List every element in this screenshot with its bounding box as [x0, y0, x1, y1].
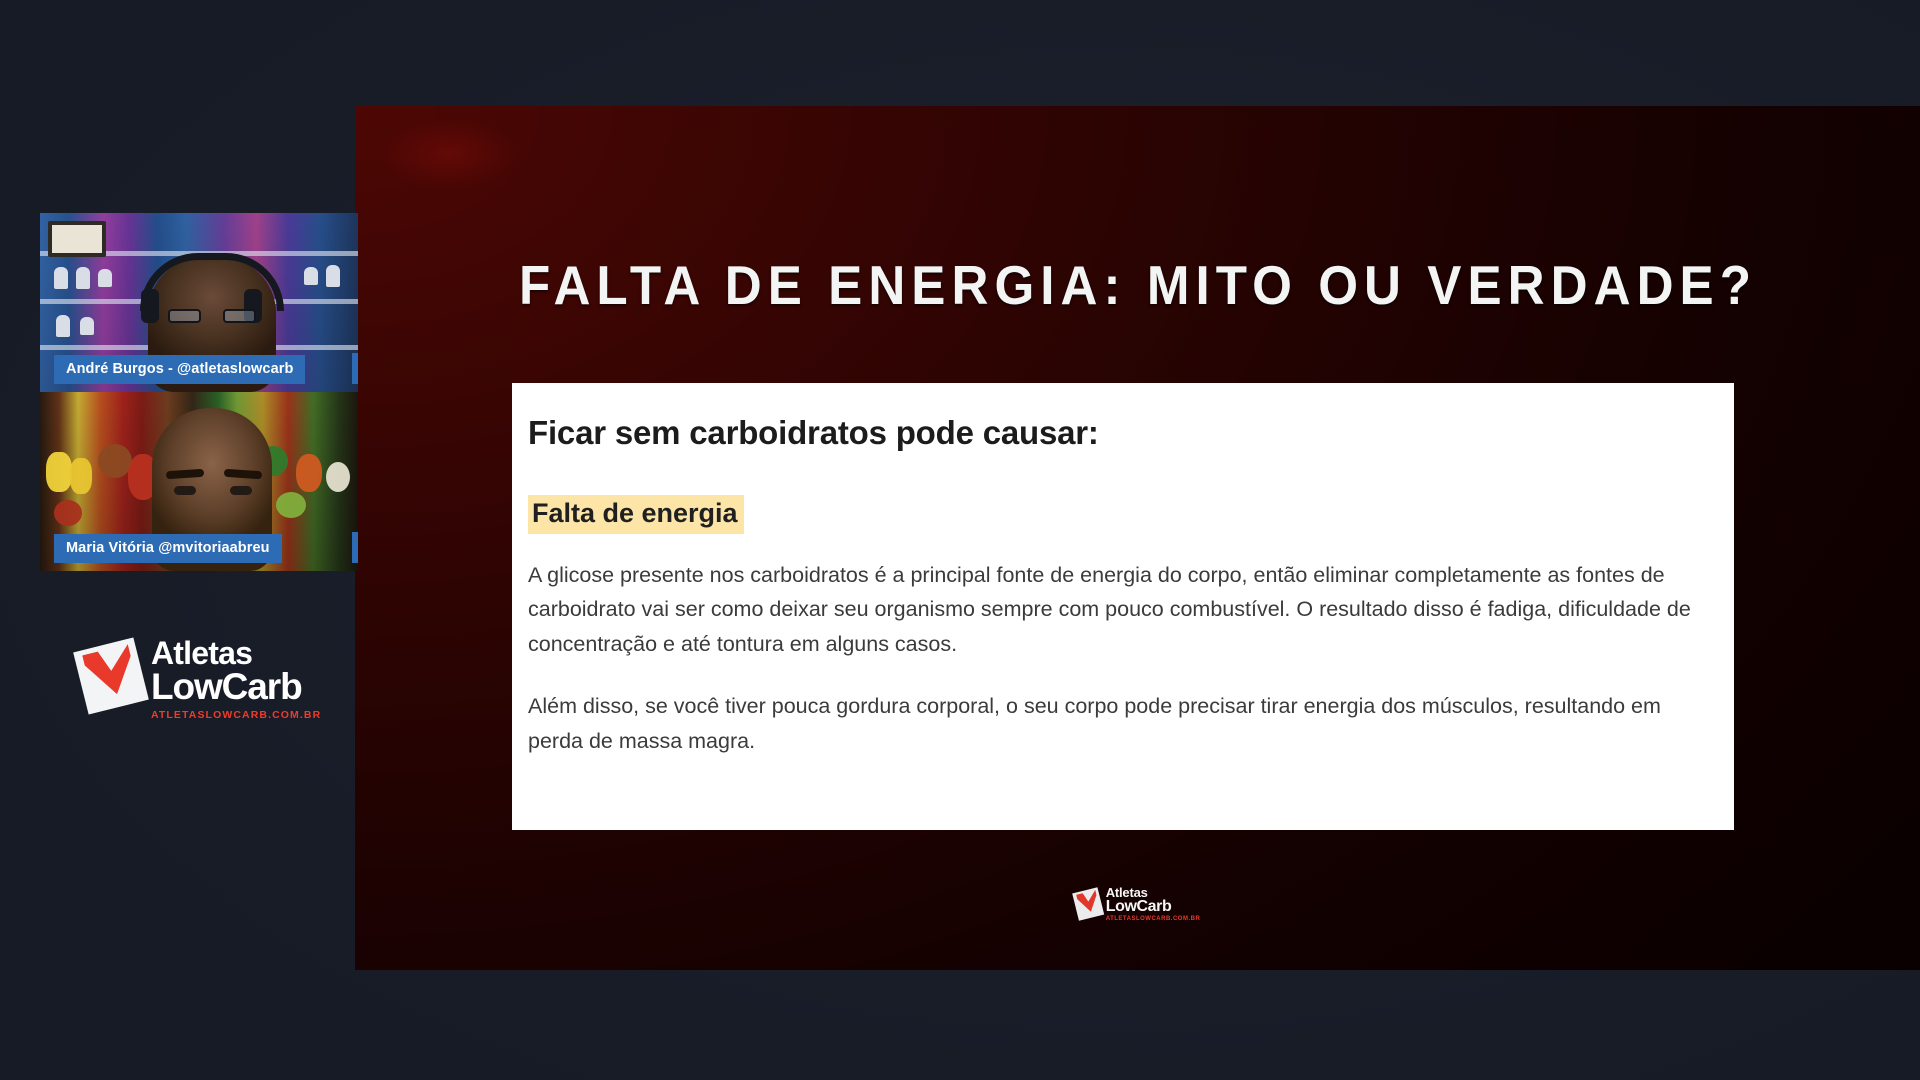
brand-logo-line2: LowCarb — [151, 669, 321, 705]
participant-name-label-maria-vitoria: Maria Vitória @mvitoriaabreu — [54, 534, 282, 563]
participant-name-label-andre-burgos: André Burgos - @atletaslowcarb — [54, 355, 305, 384]
card-subheading-highlighted: Falta de energia — [528, 495, 744, 534]
participant-tile-maria-vitoria[interactable]: Maria Vitória @mvitoriaabreu — [40, 392, 358, 571]
participant-tiles: André Burgos - @atletaslowcarb Maria Vit… — [40, 213, 358, 571]
slide-content-card: Ficar sem carboidratos pode causar: Falt… — [512, 383, 1734, 830]
brand-logo: Atletas LowCarb ATLETASLOWCARB.COM.BR — [80, 638, 321, 720]
card-paragraph-2: Além disso, se você tiver pouca gordura … — [528, 689, 1713, 759]
checkmark-logo-icon — [1075, 890, 1101, 918]
slide-footer-logo-url: ATLETASLOWCARB.COM.BR — [1106, 916, 1201, 922]
slide-title: FALTA DE ENERGIA: MITO OU VERDADE? — [473, 258, 1803, 313]
slide-footer-logo-line2: LowCarb — [1106, 899, 1201, 915]
brand-logo-url: ATLETASLOWCARB.COM.BR — [151, 710, 321, 720]
mic-indicator-icon — [352, 353, 358, 384]
mic-indicator-icon — [352, 532, 358, 563]
checkmark-logo-icon — [80, 644, 142, 708]
participant-tile-andre-burgos[interactable]: André Burgos - @atletaslowcarb — [40, 213, 358, 392]
shared-slide[interactable]: FALTA DE ENERGIA: MITO OU VERDADE? Ficar… — [355, 106, 1920, 970]
slide-footer-logo: Atletas LowCarb ATLETASLOWCARB.COM.BR — [1075, 886, 1201, 922]
card-heading: Ficar sem carboidratos pode causar: — [528, 413, 1716, 453]
card-paragraph-1: A glicose presente nos carboidratos é a … — [528, 558, 1713, 662]
brand-logo-line1: Atletas — [151, 638, 321, 669]
